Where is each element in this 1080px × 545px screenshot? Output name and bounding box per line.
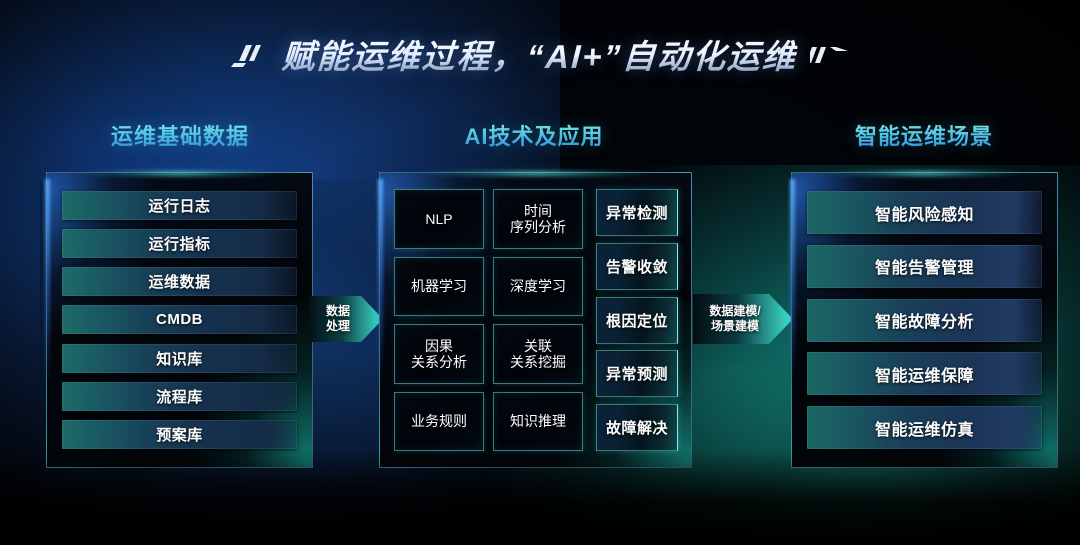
- column-heading-ai-tech: AI技术及应用: [374, 119, 694, 151]
- list-item[interactable]: 智能告警管理: [807, 245, 1042, 288]
- arrow-label-line1: 数据建模/: [709, 304, 760, 318]
- list-item[interactable]: 智能运维仿真: [807, 406, 1042, 449]
- list-item[interactable]: 运行日志: [62, 191, 297, 220]
- list-item[interactable]: 流程库: [62, 382, 297, 411]
- base-data-list: 运行日志 运行指标 运维数据 CMDB 知识库 流程库 预案库: [62, 191, 297, 449]
- slide-title-row: 赋能运维过程，“AI+”自动化运维: [0, 26, 1080, 82]
- speed-lines-left-icon: [230, 37, 270, 71]
- application-item[interactable]: 故障解决: [596, 404, 678, 451]
- slide-canvas: 赋能运维过程，“AI+”自动化运维 运维基础数据 AI技术及应用 智能运维场景 …: [0, 0, 1080, 545]
- list-item[interactable]: 智能运维保障: [807, 352, 1042, 395]
- list-item[interactable]: 预案库: [62, 420, 297, 449]
- ai-tech-content: NLP 时间序列分析 机器学习 深度学习 因果关系分析 关联关系挖掘 业务规则 …: [394, 189, 678, 451]
- arrow-data-processing: 数据 处理: [309, 290, 383, 348]
- application-item[interactable]: 根因定位: [596, 297, 678, 344]
- panel-scenarios: 智能风险感知 智能告警管理 智能故障分析 智能运维保障 智能运维仿真: [791, 172, 1058, 468]
- list-item[interactable]: 智能故障分析: [807, 299, 1042, 342]
- application-item[interactable]: 异常预测: [596, 350, 678, 397]
- tech-box[interactable]: 机器学习: [394, 257, 484, 317]
- tech-box[interactable]: 时间序列分析: [493, 189, 583, 249]
- list-item[interactable]: 知识库: [62, 344, 297, 373]
- tech-box[interactable]: 业务规则: [394, 392, 484, 452]
- arrow-label: 数据建模/ 场景建模: [693, 304, 793, 334]
- arrow-data-modeling: 数据建模/ 场景建模: [693, 288, 793, 350]
- ai-tech-grid: NLP 时间序列分析 机器学习 深度学习 因果关系分析 关联关系挖掘 业务规则 …: [394, 189, 583, 451]
- panel-ai-tech: NLP 时间序列分析 机器学习 深度学习 因果关系分析 关联关系挖掘 业务规则 …: [379, 172, 692, 468]
- application-item[interactable]: 异常检测: [596, 189, 678, 236]
- arrow-label-line2: 场景建模: [711, 319, 759, 333]
- tech-box[interactable]: 知识推理: [493, 392, 583, 452]
- arrow-label-line2: 处理: [326, 319, 350, 333]
- ai-application-list: 异常检测 告警收敛 根因定位 异常预测 故障解决: [596, 189, 678, 451]
- panel-base-data: 运行日志 运行指标 运维数据 CMDB 知识库 流程库 预案库: [46, 172, 313, 468]
- list-item[interactable]: 运维数据: [62, 267, 297, 296]
- application-item[interactable]: 告警收敛: [596, 243, 678, 290]
- list-item[interactable]: 智能风险感知: [807, 191, 1042, 234]
- tech-box[interactable]: 因果关系分析: [394, 324, 484, 384]
- bottom-fade-overlay: [0, 450, 1080, 545]
- arrow-label-line1: 数据: [326, 304, 350, 318]
- scenario-list: 智能风险感知 智能告警管理 智能故障分析 智能运维保障 智能运维仿真: [807, 191, 1042, 449]
- tech-box[interactable]: 深度学习: [493, 257, 583, 317]
- column-heading-scenarios: 智能运维场景: [784, 119, 1064, 151]
- speed-lines-right-icon: [810, 37, 850, 71]
- page-title: 赋能运维过程，“AI+”自动化运维: [281, 30, 799, 78]
- arrow-label: 数据 处理: [309, 304, 383, 334]
- tech-box[interactable]: NLP: [394, 189, 484, 249]
- list-item[interactable]: CMDB: [62, 305, 297, 334]
- tech-box[interactable]: 关联关系挖掘: [493, 324, 583, 384]
- list-item[interactable]: 运行指标: [62, 229, 297, 258]
- column-heading-base-data: 运维基础数据: [40, 119, 320, 151]
